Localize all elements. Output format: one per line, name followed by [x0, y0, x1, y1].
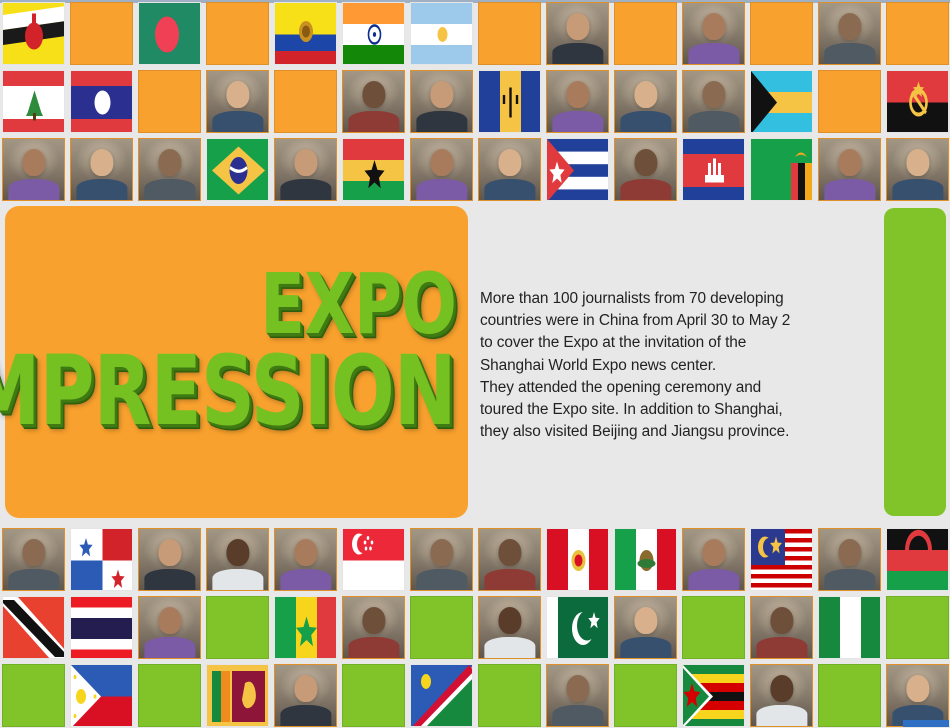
flag-ecuador[interactable]: [274, 2, 337, 65]
flag-pakistan-graphic: [547, 597, 608, 658]
flag-zimbabwe[interactable]: [682, 664, 745, 727]
flag-laos-graphic: [71, 71, 132, 132]
flag-thailand[interactable]: [70, 596, 133, 659]
flag-laos[interactable]: [70, 70, 133, 133]
portrait-photo: [683, 3, 744, 64]
journalist-portrait[interactable]: [818, 2, 881, 65]
flag-senegal[interactable]: [274, 596, 337, 659]
flag-cambodia-graphic: [683, 139, 744, 200]
flag-bahamas-graphic: [751, 71, 812, 132]
portrait-photo: [479, 139, 540, 200]
title-line-expo: EXPO: [260, 266, 456, 343]
flag-barbados[interactable]: [478, 70, 541, 133]
flag-peru-graphic: [547, 529, 608, 590]
portrait-photo: [683, 529, 744, 590]
journalist-portrait[interactable]: [886, 664, 949, 727]
journalist-portrait[interactable]: [274, 664, 337, 727]
hero-body-line: They attended the opening ceremony and: [480, 377, 860, 399]
hero-body-line: they also visited Beijing and Jiangsu pr…: [480, 421, 860, 443]
flag-brazil-graphic: [207, 139, 268, 200]
orange-tile[interactable]: [70, 2, 133, 65]
flag-mexico[interactable]: [614, 528, 677, 591]
page-root: EXPO IMPRESSION More than 100 journalist…: [0, 0, 950, 728]
orange-tile[interactable]: [614, 2, 677, 65]
green-tile[interactable]: [2, 664, 65, 727]
journalist-portrait[interactable]: [546, 70, 609, 133]
journalist-portrait[interactable]: [546, 664, 609, 727]
portrait-photo: [139, 597, 200, 658]
portrait-photo: [615, 71, 676, 132]
title-line-impression: IMPRESSION: [0, 347, 456, 435]
flag-angola[interactable]: [886, 70, 949, 133]
flag-zimbabwe-graphic: [683, 665, 744, 726]
journalist-portrait[interactable]: [274, 528, 337, 591]
portrait-photo: [819, 529, 880, 590]
flag-brunei[interactable]: [2, 2, 65, 65]
journalist-portrait[interactable]: [138, 596, 201, 659]
flag-thailand-graphic: [71, 597, 132, 658]
journalist-portrait[interactable]: [614, 70, 677, 133]
flag-philippines-graphic: [71, 665, 132, 726]
green-tile[interactable]: [682, 596, 745, 659]
green-tile[interactable]: [818, 664, 881, 727]
journalist-portrait[interactable]: [478, 596, 541, 659]
portrait-photo: [887, 139, 948, 200]
flag-cambodia[interactable]: [682, 138, 745, 201]
journalist-portrait[interactable]: [682, 2, 745, 65]
hero-body-line: countries were in China from April 30 to…: [480, 310, 860, 332]
journalist-portrait[interactable]: [410, 70, 473, 133]
journalist-portrait[interactable]: [342, 596, 405, 659]
mosaic-bottom: [2, 528, 949, 727]
flag-namibia-graphic: [411, 665, 472, 726]
journalist-portrait[interactable]: [138, 528, 201, 591]
portrait-photo: [819, 139, 880, 200]
portrait-photo: [275, 665, 336, 726]
orange-tile[interactable]: [206, 2, 269, 65]
selection-marker: [903, 720, 949, 727]
hero-body-line: More than 100 journalists from 70 develo…: [480, 288, 860, 310]
journalist-portrait[interactable]: [206, 70, 269, 133]
portrait-photo: [547, 71, 608, 132]
flag-bangladesh-graphic: [139, 3, 200, 64]
flag-lebanon[interactable]: [2, 70, 65, 133]
journalist-portrait[interactable]: [818, 528, 881, 591]
journalist-portrait[interactable]: [682, 528, 745, 591]
portrait-photo: [547, 665, 608, 726]
flag-sri-lanka[interactable]: [206, 664, 269, 727]
green-tile[interactable]: [206, 596, 269, 659]
flag-philippines[interactable]: [70, 664, 133, 727]
flag-ecuador-graphic: [275, 3, 336, 64]
journalist-portrait[interactable]: [750, 596, 813, 659]
portrait-photo: [139, 529, 200, 590]
hero-body-line: toured the Expo site. In addition to Sha…: [480, 399, 860, 421]
portrait-photo: [683, 71, 744, 132]
flag-mexico-graphic: [615, 529, 676, 590]
journalist-portrait[interactable]: [750, 664, 813, 727]
flag-angola-graphic: [887, 71, 948, 132]
green-tile[interactable]: [138, 664, 201, 727]
green-tile[interactable]: [342, 664, 405, 727]
orange-tile[interactable]: [274, 70, 337, 133]
flag-nigeria-graphic: [819, 597, 880, 658]
flag-argentina[interactable]: [410, 2, 473, 65]
flag-zambia[interactable]: [750, 138, 813, 201]
journalist-portrait[interactable]: [138, 138, 201, 201]
portrait-photo: [139, 139, 200, 200]
journalist-portrait[interactable]: [410, 138, 473, 201]
portrait-photo: [547, 3, 608, 64]
journalist-portrait[interactable]: [614, 596, 677, 659]
portrait-photo: [411, 529, 472, 590]
flag-ghana-graphic: [343, 139, 404, 200]
journalist-portrait[interactable]: [410, 528, 473, 591]
portrait-photo: [615, 139, 676, 200]
journalist-portrait[interactable]: [478, 138, 541, 201]
portrait-photo: [751, 597, 812, 658]
flag-bahamas[interactable]: [750, 70, 813, 133]
flag-india[interactable]: [342, 2, 405, 65]
green-tile[interactable]: [478, 664, 541, 727]
portrait-photo: [411, 71, 472, 132]
flag-trinidad-and-tobago-graphic: [3, 597, 64, 658]
journalist-portrait[interactable]: [682, 70, 745, 133]
orange-tile[interactable]: [478, 2, 541, 65]
portrait-photo: [207, 71, 268, 132]
journalist-portrait[interactable]: [274, 138, 337, 201]
flag-malaysia-graphic: [751, 529, 812, 590]
page-title: EXPO IMPRESSION: [5, 206, 468, 518]
journalist-portrait[interactable]: [2, 528, 65, 591]
portrait-photo: [3, 139, 64, 200]
journalist-portrait[interactable]: [886, 138, 949, 201]
flag-brunei-graphic: [3, 3, 64, 64]
flag-argentina-graphic: [411, 3, 472, 64]
portrait-photo: [887, 665, 948, 726]
flag-senegal-graphic: [275, 597, 336, 658]
green-tile[interactable]: [614, 664, 677, 727]
flag-lebanon-graphic: [3, 71, 64, 132]
flag-india-graphic: [343, 3, 404, 64]
flag-nigeria[interactable]: [818, 596, 881, 659]
flag-malawi[interactable]: [886, 528, 949, 591]
portrait-photo: [479, 529, 540, 590]
orange-tile[interactable]: [818, 70, 881, 133]
flag-peru[interactable]: [546, 528, 609, 591]
flag-namibia[interactable]: [410, 664, 473, 727]
flag-ghana[interactable]: [342, 138, 405, 201]
flag-malaysia[interactable]: [750, 528, 813, 591]
journalist-portrait[interactable]: [478, 528, 541, 591]
portrait-photo: [819, 3, 880, 64]
journalist-portrait[interactable]: [70, 138, 133, 201]
portrait-photo: [751, 665, 812, 726]
green-tile[interactable]: [410, 596, 473, 659]
flag-panama-graphic: [71, 529, 132, 590]
green-tile[interactable]: [886, 596, 949, 659]
journalist-portrait[interactable]: [2, 138, 65, 201]
journalist-portrait[interactable]: [206, 528, 269, 591]
flag-singapore[interactable]: [342, 528, 405, 591]
portrait-photo: [3, 529, 64, 590]
hero-green-accent-bar: [884, 208, 946, 516]
portrait-photo: [343, 597, 404, 658]
flag-bangladesh[interactable]: [138, 2, 201, 65]
hero-body-line: Shanghai World Expo news center.: [480, 355, 860, 377]
hero-body-text: More than 100 journalists from 70 develo…: [480, 288, 860, 443]
orange-tile[interactable]: [138, 70, 201, 133]
orange-tile[interactable]: [750, 2, 813, 65]
journalist-portrait[interactable]: [546, 2, 609, 65]
flag-barbados-graphic: [479, 71, 540, 132]
flag-cuba-graphic: [547, 139, 608, 200]
flag-malawi-graphic: [887, 529, 948, 590]
portrait-photo: [479, 597, 540, 658]
flag-zambia-graphic: [751, 139, 812, 200]
journalist-portrait[interactable]: [818, 138, 881, 201]
portrait-photo: [71, 139, 132, 200]
portrait-photo: [411, 139, 472, 200]
flag-sri-lanka-graphic: [207, 665, 268, 726]
orange-tile[interactable]: [886, 2, 949, 65]
portrait-photo: [615, 597, 676, 658]
flag-singapore-graphic: [343, 529, 404, 590]
flag-panama[interactable]: [70, 528, 133, 591]
journalist-portrait[interactable]: [614, 138, 677, 201]
flag-brazil[interactable]: [206, 138, 269, 201]
flag-cuba[interactable]: [546, 138, 609, 201]
portrait-photo: [275, 529, 336, 590]
flag-trinidad-and-tobago[interactable]: [2, 596, 65, 659]
journalist-portrait[interactable]: [342, 70, 405, 133]
portrait-photo: [343, 71, 404, 132]
portrait-photo: [207, 529, 268, 590]
hero-body-line: to cover the Expo at the invitation of t…: [480, 332, 860, 354]
mosaic-top: [2, 2, 949, 201]
flag-pakistan[interactable]: [546, 596, 609, 659]
portrait-photo: [275, 139, 336, 200]
